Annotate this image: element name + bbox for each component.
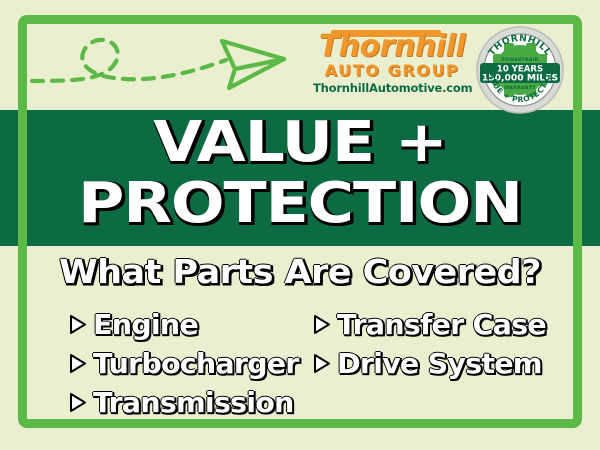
paper-plane-icon: [222, 41, 284, 88]
headline-line-1: VALUE +: [0, 112, 600, 174]
headline-line-2: PROTECTION: [0, 174, 600, 234]
triangle-bullet-icon: [312, 314, 331, 335]
promo-banner: Thornhill AUTO GROUP ThornhillAutomotive…: [0, 0, 600, 450]
banner-header: Thornhill AUTO GROUP ThornhillAutomotive…: [0, 0, 600, 112]
coverage-column-left: Engine Turbocharger Transmission: [68, 305, 295, 422]
list-item: Drive System: [312, 344, 542, 383]
logo-brand-subtitle: AUTO GROUP: [313, 62, 471, 79]
section-question: What Parts Are Covered?: [0, 250, 600, 294]
coverage-item-label: Transmission: [93, 388, 294, 418]
warranty-seal-icon: THORNHILL POWERTRAIN 10 YEARS 150,000 MI…: [476, 26, 564, 114]
list-item: Engine: [68, 305, 295, 344]
logo-brand-name: Thornhill: [313, 32, 471, 62]
list-item: Turbocharger: [68, 344, 295, 383]
coverage-lists: Engine Turbocharger Transmission Tra: [0, 305, 600, 423]
list-item: Transmission: [68, 383, 295, 422]
coverage-item-label: Engine: [93, 310, 198, 340]
thornhill-logo: Thornhill AUTO GROUP ThornhillAutomotive…: [313, 27, 471, 95]
dashed-path-icon: [30, 22, 300, 94]
flight-path-decoration: [30, 22, 300, 99]
coverage-item-label: Transfer Case: [337, 310, 546, 340]
logo-website-url: ThornhillAutomotive.com: [313, 81, 471, 95]
triangle-bullet-icon: [68, 353, 87, 374]
badge-powertrain-text: POWERTRAIN: [501, 57, 539, 63]
coverage-item-label: Turbocharger: [93, 349, 299, 379]
coverage-item-label: Drive System: [337, 349, 542, 379]
triangle-bullet-icon: [312, 353, 331, 374]
badge-warranty-text: WARRANTY: [504, 85, 536, 91]
list-item: Transfer Case: [312, 305, 542, 344]
warranty-badge: THORNHILL POWERTRAIN 10 YEARS 150,000 MI…: [476, 26, 564, 114]
coverage-column-right: Transfer Case Drive System: [312, 305, 542, 383]
triangle-bullet-icon: [68, 392, 87, 413]
headline: VALUE + PROTECTION: [0, 112, 600, 234]
triangle-bullet-icon: [68, 314, 87, 335]
